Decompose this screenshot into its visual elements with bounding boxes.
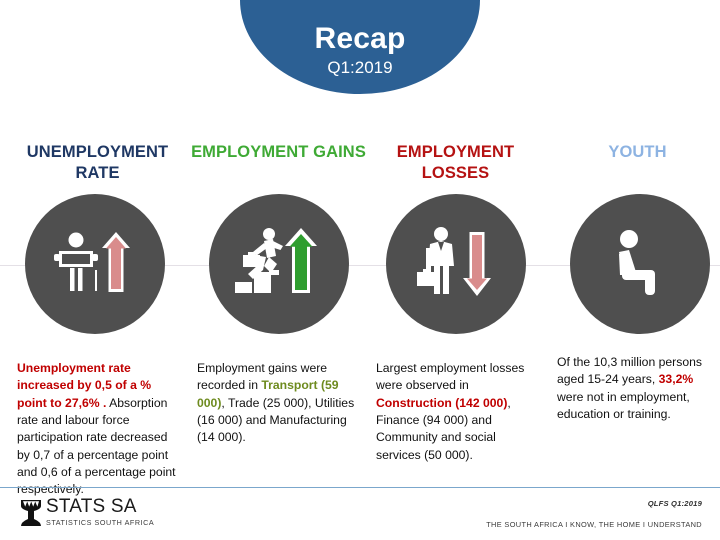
logo-subtitle: STATISTICS SOUTH AFRICA: [46, 518, 154, 527]
circle-wrap-employment-losses: [365, 190, 546, 338]
icon-circle-employment-gains: [209, 194, 349, 334]
column-heading-employment-losses: EMPLOYMENT LOSSES: [365, 142, 546, 190]
column-body-employment-losses: Largest employment losses were observed …: [365, 360, 546, 464]
losses-highlight: Construction (142 000): [376, 396, 507, 410]
icon-circle-unemployment-rate: [25, 194, 165, 334]
column-body-employment-gains: Employment gains were recorded in Transp…: [188, 360, 369, 447]
column-heading-employment-gains: EMPLOYMENT GAINS: [188, 142, 369, 190]
icon-circle-youth: [570, 194, 710, 334]
gains-text-part2: , Trade (25 000), Utilities (16 000) and…: [197, 396, 354, 445]
column-body-youth: Of the 10,3 million persons aged 15-24 y…: [547, 354, 720, 423]
column-employment-gains: EMPLOYMENT GAINS: [188, 142, 369, 447]
youth-highlight: 33,2%: [659, 372, 694, 386]
person-climbing-stairs-with-up-arrow-icon: [233, 224, 325, 304]
icon-circle-employment-losses: [386, 194, 526, 334]
logo-title: STATS SA: [46, 497, 154, 516]
page-subtitle: Q1:2019: [327, 58, 392, 78]
footer-reference: QLFS Q1:2019: [648, 499, 702, 508]
youth-text-part2: were not in employment, education or tra…: [557, 390, 690, 421]
header-banner: Recap Q1:2019: [240, 0, 480, 94]
person-with-briefcase-and-down-arrow-icon: [412, 224, 500, 304]
circle-wrap-employment-gains: [188, 190, 369, 338]
footer-tagline: THE SOUTH AFRICA I KNOW, THE HOME I UNDE…: [486, 520, 702, 529]
african-drum-icon: [18, 498, 44, 528]
column-unemployment-rate: UNEMPLOYMENT RATE U: [7, 142, 188, 499]
circle-wrap-unemployment-rate: [7, 190, 188, 338]
person-with-sign-and-up-arrow-icon: [50, 224, 140, 304]
stats-sa-logo: STATS SA STATISTICS SOUTH AFRICA: [18, 497, 154, 528]
circle-wrap-youth: [547, 190, 720, 338]
column-heading-youth: YOUTH: [547, 142, 720, 190]
unemployment-rest-text: Absorption rate and labour force partici…: [17, 396, 176, 497]
footer: STATS SA STATISTICS SOUTH AFRICA QLFS Q1…: [0, 488, 720, 540]
page-title: Recap: [314, 23, 405, 55]
column-heading-unemployment-rate: UNEMPLOYMENT RATE: [7, 142, 188, 190]
column-youth: YOUTH Of the 10,3 million persons aged 1…: [547, 142, 720, 423]
losses-text-part1: Largest employment losses were observed …: [376, 361, 524, 392]
column-employment-losses: EMPLOYMENT LOSSES: [365, 142, 546, 464]
seated-person-icon: [605, 228, 675, 300]
column-body-unemployment-rate: Unemployment rate increased by 0,5 of a …: [7, 360, 188, 499]
